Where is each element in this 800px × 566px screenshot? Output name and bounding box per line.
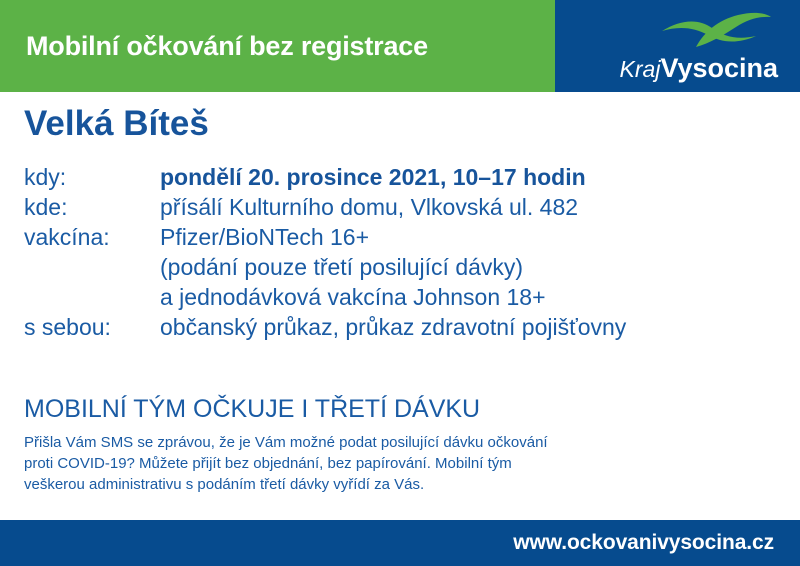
detail-value: (podání pouze třetí posilující dávky) (160, 252, 784, 282)
detail-value: Pfizer/BioNTech 16+ (160, 222, 784, 252)
poster-footer: www.ockovanivysocina.cz (0, 520, 800, 566)
paragraph-line: Přišla Vám SMS se zprávou, že je Vám mož… (24, 432, 724, 453)
detail-label: kdy: (24, 162, 160, 192)
event-details-table: kdy: pondělí 20. prosince 2021, 10–17 ho… (24, 162, 784, 342)
table-row: (podání pouze třetí posilující dávky) (24, 252, 784, 282)
paragraph-line: veškerou administrativu s podáním třetí … (24, 474, 724, 495)
campaign-paragraph: Přišla Vám SMS se zprávou, že je Vám mož… (24, 432, 724, 495)
vaccination-poster: Mobilní očkování bez registrace KrajVyso… (0, 0, 800, 566)
detail-value: přísálí Kulturního domu, Vlkovská ul. 48… (160, 192, 784, 222)
kraj-vysocina-wing-mark (660, 10, 772, 48)
kraj-vysocina-logo: KrajVysocina (578, 10, 778, 84)
logo-wordmark: KrajVysocina (578, 55, 778, 82)
campaign-headline: MOBILNÍ TÝM OČKUJE I TŘETÍ DÁVKU (24, 397, 480, 422)
detail-label (24, 252, 160, 282)
website-url[interactable]: www.ockovanivysocina.cz (513, 531, 774, 555)
table-row: kde: přísálí Kulturního domu, Vlkovská u… (24, 192, 784, 222)
poster-body: Velká Bíteš kdy: pondělí 20. prosince 20… (0, 92, 800, 520)
table-row: vakcína: Pfizer/BioNTech 16+ (24, 222, 784, 252)
table-row: a jednodávková vakcína Johnson 18+ (24, 282, 784, 312)
logo-word-vysocina: Vysocina (660, 53, 778, 83)
detail-label: kde: (24, 192, 160, 222)
paragraph-line: proti COVID-19? Můžete přijít bez objedn… (24, 453, 724, 474)
header-title: Mobilní očkování bez registrace (26, 33, 428, 60)
table-row: kdy: pondělí 20. prosince 2021, 10–17 ho… (24, 162, 784, 192)
detail-label (24, 282, 160, 312)
detail-label: vakcína: (24, 222, 160, 252)
city-name: Velká Bíteš (24, 106, 209, 141)
table-row: s sebou: občanský průkaz, průkaz zdravot… (24, 312, 784, 342)
detail-value: a jednodávková vakcína Johnson 18+ (160, 282, 784, 312)
detail-value: občanský průkaz, průkaz zdravotní pojišť… (160, 312, 784, 342)
poster-header: Mobilní očkování bez registrace KrajVyso… (0, 0, 800, 92)
header-blue-band: KrajVysocina (555, 0, 800, 92)
detail-label: s sebou: (24, 312, 160, 342)
detail-value: pondělí 20. prosince 2021, 10–17 hodin (160, 162, 784, 192)
logo-word-kraj: Kraj (620, 56, 661, 82)
header-green-band: Mobilní očkování bez registrace (0, 0, 555, 92)
